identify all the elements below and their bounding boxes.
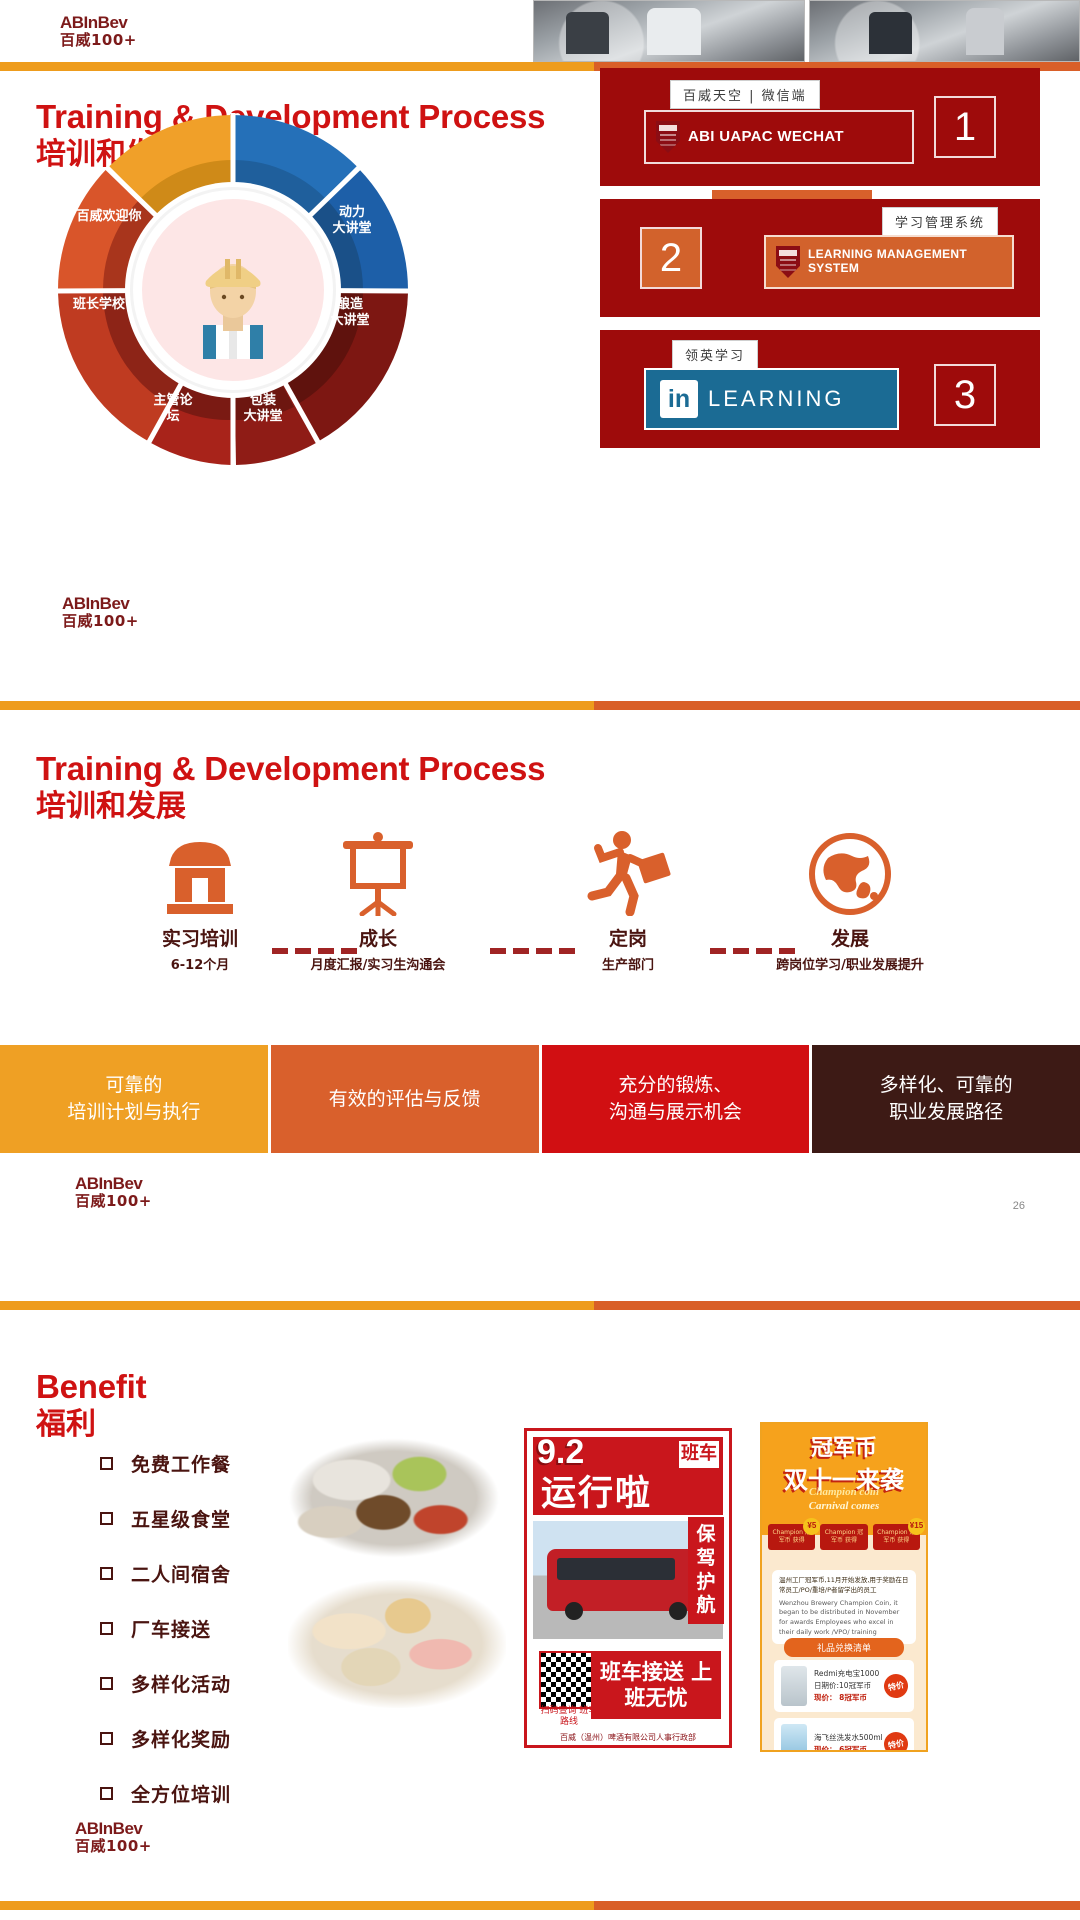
slide2-title-block: Training & Development Process 培训和发展 [0,734,545,824]
page-title-en-2: Training & Development Process [36,752,545,787]
champion-coin-poster: 冠军币 双十一来袭 Champion coin Carnival comes C… [760,1422,928,1752]
pillar-bar-feedback: 有效的评估与反馈 [271,1045,539,1153]
dessert-photo [288,1580,506,1708]
header-photo-1 [533,0,805,62]
flipchart-icon [268,830,488,916]
carnival-subtitle-en2: Carnival comes [762,1500,926,1512]
carnival-note: 温州工厂冠军币,11月开始发放,用于奖励在日常员工/PO/重培/P者留学出的员工… [772,1570,916,1644]
poster-side-text: 保驾护航 [688,1517,724,1624]
benefit-label-activities: 多样化活动 [131,1670,231,1697]
pillar-bar-plan: 可靠的 培训计划与执行 [0,1045,268,1153]
divider2-seg-amber [0,1301,594,1310]
list-item: 全方位培训 [100,1780,231,1807]
list-item: 二人间宿舍 [100,1560,231,1587]
gift-info: Redmi充电宝1000 日期价:10冠军币 现价： 8冠军币 [814,1668,879,1704]
online-resource-card-3[interactable]: 领英学习 in LEARNING 3 [600,330,1040,448]
list-item: 多样化奖励 [100,1725,231,1752]
canteen-food-photo [288,1438,500,1558]
checkbox-icon [100,1732,113,1745]
flow-sub-growth: 月度汇报/实习生沟通会 [268,954,488,973]
carnival-subtitle-en1: Champion coin [762,1486,926,1498]
footer-logo-wordmark-3: ABInBev [75,1820,152,1837]
logo-wordmark: ABInBev [60,14,137,31]
shuttle-bus-poster: 9.2 运行啦 班车 保驾护航 扫码查询 班车路线 班车接送 上班无忧 百威（温… [524,1428,732,1748]
benefit-bullet-list: 免费工作餐 五星级食堂 二人间宿舍 厂车接送 多样化活动 多样化奖励 [100,1450,231,1835]
slide-training-development-1: ABInBev 百威100+ Training & Development Pr… [0,0,1080,710]
flow-title-development: 发展 [740,924,960,951]
gift-info: 海飞丝洗发水500ml 现价： 6冠军币 [814,1732,883,1752]
linkedin-learning-box: in LEARNING [644,368,899,430]
gift-price: 现价： 6冠军币 [814,1745,867,1752]
gift-name: 海飞丝洗发水500ml [814,1733,883,1742]
chip-text: Champion 冠军币 获得 [825,1529,863,1544]
carnival-chip: Champion 冠军币 获得 [820,1524,867,1550]
poster-headline: 运行啦 [541,1465,652,1516]
presentation-page: ABInBev 百威100+ Training & Development Pr… [0,0,1080,1920]
divider3-seg-orange [594,1901,1080,1910]
slide-training-development-2: Training & Development Process 培训和发展 实习培… [0,710,1080,1310]
gift-name: Redmi充电宝1000 [814,1669,879,1678]
gift-tag: 特价 [882,1672,910,1700]
header-photo-strip [533,0,1080,62]
slide2-footer-logo: ABInBev 百威100+ [75,1175,152,1209]
resource-box-wechat: ABI UAPAC WECHAT [644,110,914,164]
poster-footer: 百威（温州）啤酒有限公司人事行政部 [527,1732,729,1743]
resource-number-1: 1 [934,96,996,158]
poster-banner-label: 班车 [679,1441,719,1468]
divider-seg-orange [594,701,1080,710]
gift-tag: 特价 [882,1730,910,1752]
logo-sub: 百威100+ [60,33,137,48]
slide-page-number: 26 [1013,1200,1025,1212]
online-resource-card-1[interactable]: 百威天空 | 微信端 ABI UAPAC WECHAT 1 [600,68,1040,186]
gift-thumbnail [781,1724,807,1752]
poster-header-band: 9.2 运行啦 班车 [533,1437,723,1515]
carnival-chip: Champion 冠军币 获得 ¥15 [873,1524,920,1550]
carnival-note-cn: 温州工厂冠军币,11月开始发放,用于奖励在日常员工/PO/重培/P者留学出的员工 [779,1576,909,1596]
carnival-title: 冠军币 [762,1430,926,1462]
checkbox-icon [100,1677,113,1690]
resource-tag-wechat: 百威天空 | 微信端 [670,80,820,109]
flow-sub-development: 跨岗位学习/职业发展提升 [740,954,960,973]
running-person-icon [518,830,738,916]
list-item: 免费工作餐 [100,1450,231,1477]
gift-thumbnail [781,1666,807,1706]
online-resource-card-2[interactable]: 2 学习管理系统 LEARNING MANAGEMENT SYSTEM [600,199,1040,317]
poster-callout: 班车接送 上班无忧 [591,1651,721,1720]
worker-avatar-icon [173,229,293,359]
flow-step-development: 发展 跨岗位学习/职业发展提升 [740,830,960,973]
resource-number-3: 3 [934,364,996,426]
globe-icon [740,830,960,916]
online-resources-list: 百威天空 | 微信端 ABI UAPAC WECHAT 1 2 学习管理系统 L… [600,68,1040,461]
resource-box-lms: LEARNING MANAGEMENT SYSTEM [764,235,1014,289]
slide1-bottom-divider [0,701,1080,710]
resource-tag-linkedin: 领英学习 [672,340,758,369]
gift-orig-price: 日期价:10冠军币 [814,1681,871,1690]
slide3-footer-logo: ABInBev 百威100+ [75,1820,152,1854]
gift-price: 现价： 8冠军币 [814,1693,867,1702]
page-title-en-3: Benefit [36,1370,146,1405]
qr-code-icon [539,1651,597,1709]
carnival-redeem-bar: 礼品兑换清单 [784,1638,904,1657]
flow-step-growth: 成长 月度汇报/实习生沟通会 [268,830,488,973]
flow-title-growth: 成长 [268,924,488,951]
onsite-training-donut: 百威欢迎你 班长学校 主管论 坛 包装 大讲堂 酿造 大讲堂 动力 大讲堂 [18,105,438,495]
training-pillar-bars: 可靠的 培训计划与执行 有效的评估与反馈 充分的锻炼、 沟通与展示机会 多样化、… [0,1045,1080,1153]
list-item: 厂车接送 [100,1615,231,1642]
pillar-bar-career: 多样化、可靠的 职业发展路径 [812,1045,1080,1153]
footer-logo-wordmark-2: ABInBev [75,1175,152,1192]
slide3-bottom-divider [0,1901,1080,1910]
donut-center-circle [133,190,333,390]
benefit-label-meal: 免费工作餐 [131,1450,231,1477]
footer-logo-sub-2: 百威100+ [75,1194,152,1209]
benefit-label-dorm: 二人间宿舍 [131,1560,231,1587]
benefit-label-rewards: 多样化奖励 [131,1725,231,1752]
list-item: 多样化活动 [100,1670,231,1697]
carnival-gift-item: Redmi充电宝1000 日期价:10冠军币 现价： 8冠军币 特价 [774,1660,914,1712]
carnival-gift-item: 海飞丝洗发水500ml 现价： 6冠军币 特价 [774,1718,914,1752]
training-flow-diagram: 实习培训 6-12个月 [0,830,1080,1010]
list-item: 五星级食堂 [100,1505,231,1532]
slide1-footer-logo: ABInBev 百威100+ [62,595,139,629]
slide3-title-block: Benefit 福利 [0,1352,146,1442]
flow-step-assignment: 定岗 生产部门 [518,830,738,973]
carnival-note-en: Wenzhou Brewery Champion Coin, it began … [779,1599,909,1638]
footer-logo-wordmark: ABInBev [62,595,139,612]
benefit-label-shuttle: 厂车接送 [131,1615,211,1642]
flow-title-assignment: 定岗 [518,924,738,951]
slide2-bottom-divider [0,1301,1080,1310]
slide1-header: ABInBev 百威100+ [0,0,533,62]
divider3-seg-amber [0,1901,594,1910]
carnival-chip: Champion 冠军币 获得 ¥5 [768,1524,815,1550]
resource-number-2: 2 [640,227,702,289]
resource-brand-linkedin: LEARNING [708,386,844,412]
abi-shield-icon [776,246,800,278]
checkbox-icon [100,1512,113,1525]
page-title-cn-2: 培训和发展 [36,790,545,825]
chip-badge: ¥5 [803,1518,820,1535]
benefit-label-training: 全方位培训 [131,1780,231,1807]
footer-logo-sub-3: 百威100+ [75,1839,152,1854]
resource-brand-lms: LEARNING MANAGEMENT SYSTEM [808,248,1002,276]
chip-badge: ¥15 [908,1518,925,1535]
slide-benefit: Benefit 福利 免费工作餐 五星级食堂 二人间宿舍 厂车接送 多 [0,1310,1080,1910]
abinbev-logo: ABInBev 百威100+ [60,14,137,48]
color-seg-amber [0,62,594,71]
checkbox-icon [100,1787,113,1800]
pillar-bar-practice: 充分的锻炼、 沟通与展示机会 [542,1045,810,1153]
divider-seg-amber [0,701,594,710]
footer-logo-sub: 百威100+ [62,614,139,629]
resource-brand-wechat: ABI UAPAC WECHAT [688,128,844,145]
checkbox-icon [100,1622,113,1635]
divider2-seg-orange [594,1301,1080,1310]
abi-shield-icon [656,121,680,153]
linkedin-icon: in [660,380,698,418]
header-photo-2 [809,0,1080,62]
checkbox-icon [100,1457,113,1470]
checkbox-icon [100,1567,113,1580]
benefit-label-canteen: 五星级食堂 [131,1505,231,1532]
carnival-chip-row: Champion 冠军币 获得 ¥5 Champion 冠军币 获得 Champ… [768,1524,920,1550]
flow-sub-assignment: 生产部门 [518,954,738,973]
resource-tag-lms: 学习管理系统 [882,207,998,236]
page-title-cn-3: 福利 [36,1408,146,1443]
